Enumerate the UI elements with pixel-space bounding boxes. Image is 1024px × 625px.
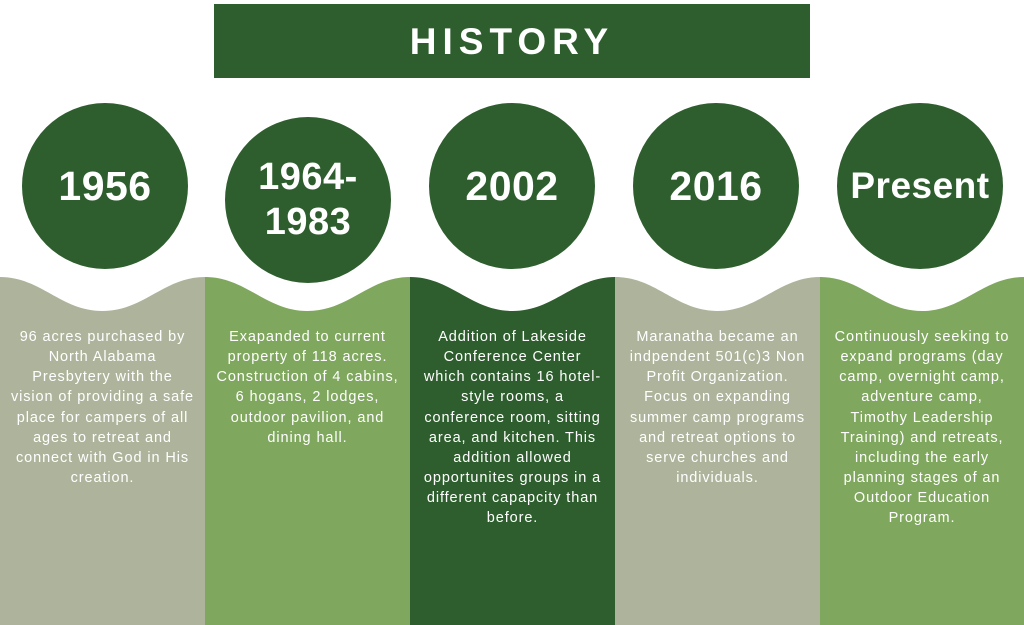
timeline-panel-1964-1983: Exapanded to current property of 118 acr… xyxy=(205,277,410,625)
timeline-panel-1956: 96 acres purchased by North Alabama Pres… xyxy=(0,277,205,625)
page-title: HISTORY xyxy=(410,23,614,60)
timeline-circle-label-present: Present xyxy=(850,164,989,208)
timeline-circle-1964-1983[interactable]: 1964- 1983 xyxy=(225,117,391,283)
timeline-panel-present: Continuously seeking to expand programs … xyxy=(820,277,1024,625)
timeline-body-1956: 96 acres purchased by North Alabama Pres… xyxy=(0,327,205,488)
timeline-circle-present[interactable]: Present xyxy=(837,103,1003,269)
timeline-body-2016: Maranatha became an indpendent 501(c)3 N… xyxy=(615,327,820,488)
timeline-circle-label-1964-1983: 1964- 1983 xyxy=(258,155,358,245)
history-infographic: 96 acres purchased by North Alabama Pres… xyxy=(0,0,1024,625)
timeline-body-2002: Addition of Lakeside Conference Center w… xyxy=(410,327,615,528)
timeline-body-present: Continuously seeking to expand programs … xyxy=(820,327,1024,528)
header-banner: HISTORY xyxy=(214,4,810,78)
timeline-circle-2002[interactable]: 2002 xyxy=(429,103,595,269)
timeline-circle-label-1956: 1956 xyxy=(58,162,151,210)
timeline-body-1964-1983: Exapanded to current property of 118 acr… xyxy=(205,327,410,448)
timeline-panel-2002: Addition of Lakeside Conference Center w… xyxy=(410,277,615,625)
timeline-panel-2016: Maranatha became an indpendent 501(c)3 N… xyxy=(615,277,820,625)
timeline-circle-label-2016: 2016 xyxy=(669,162,762,210)
timeline-circle-1956[interactable]: 1956 xyxy=(22,103,188,269)
timeline-circle-label-2002: 2002 xyxy=(465,162,558,210)
timeline-circle-2016[interactable]: 2016 xyxy=(633,103,799,269)
